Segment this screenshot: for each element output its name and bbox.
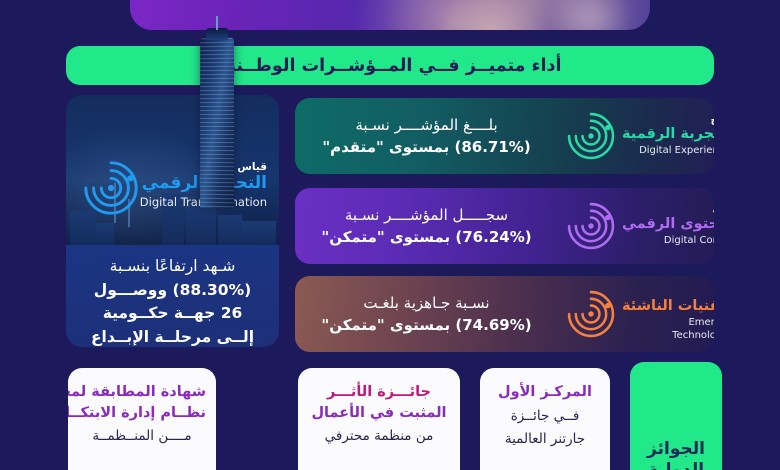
skyline-block xyxy=(242,221,276,245)
digital-transformation-card: قياس التحول الرقمي Digital Transformatio… xyxy=(66,95,279,347)
indicator-line-2: (76.24%) بمستوى "متمكن" xyxy=(305,226,548,249)
stat-line: (88.30%) ووصـــول xyxy=(80,279,265,303)
indicator-eyebrow: تبني xyxy=(622,286,714,297)
indicator-title: التقنيات الناشئة xyxy=(622,298,714,315)
tower-landmark xyxy=(200,38,234,209)
indicator-title-en: Digital Content xyxy=(622,234,714,247)
indicator-card-digital-experience: نضج التجربة الرقمية Digital Experience ب… xyxy=(295,98,714,174)
indicator-title: التجربة الرقمية xyxy=(622,126,714,143)
award-body-line-1: جارتنر العالمية xyxy=(490,429,600,449)
indicator-eyebrow: كفاءة xyxy=(622,205,714,216)
indicator-body: سجـــــل المؤشــــر نسـبة (76.24%) بمستو… xyxy=(295,204,564,249)
indicator-card-digital-content: كفاءة المحتوى الرقمي Digital Content سجـ… xyxy=(295,188,714,264)
stat-line: شـهد ارتفاعًا بنسـبة xyxy=(80,255,265,279)
indicator-body: بلــــغ المؤشــــر نسـبة (86.71%) بمستوى… xyxy=(295,114,564,159)
award-body-line-1: من منظمة محترفي xyxy=(308,426,450,446)
award-title-line-1: جائـــزة الأثـــر xyxy=(308,382,450,403)
indicator-line-1: بلــــغ المؤشــــر نسـبة xyxy=(305,114,548,137)
emerging-technologies-spiral-icon xyxy=(564,287,618,341)
banner-glow-right xyxy=(546,0,636,30)
indicator-brand: تبني التقنيات الناشئة Emerging Technolog… xyxy=(564,286,714,342)
award-title-line-2: فــي جائــزة xyxy=(490,406,600,426)
digital-experience-spiral-icon xyxy=(564,109,618,163)
indicator-eyebrow: نضج xyxy=(622,115,714,126)
badge-line-1: الجوائز xyxy=(647,439,705,461)
digital-content-spiral-icon xyxy=(564,199,618,253)
international-awards-badge: الجوائز الدولية xyxy=(630,362,722,470)
indicator-title-en: Digital Experience xyxy=(622,144,714,157)
indicator-line-2: (86.71%) بمستوى "متقدم" xyxy=(305,136,548,159)
tower-antenna xyxy=(216,16,218,30)
badge-line-2: الدولية xyxy=(648,460,704,470)
digital-transformation-stats: شـهد ارتفاعًا بنسـبة (88.30%) ووصـــول 2… xyxy=(66,247,279,347)
skyline-block xyxy=(96,223,114,245)
award-card-proven-impact: جائـــزة الأثـــر المثبت في الأعمال من م… xyxy=(298,368,460,470)
infographic-canvas: مـنصــة الأعمــال الرقمـيـة أداء متميــز… xyxy=(0,0,780,470)
indicator-brand: كفاءة المحتوى الرقمي Digital Content xyxy=(564,199,714,253)
award-title-line-1: شهادة المطابقة لمعيار xyxy=(78,382,206,403)
award-title-line-2: نظــام إدارة الابتكــار xyxy=(78,403,206,424)
indicator-title: المحتوى الرقمي xyxy=(622,216,714,233)
indicator-line-1: سجـــــل المؤشــــر نسـبة xyxy=(305,204,548,227)
indicator-body: نسـبة جـاهزية بلغـت (74.69%) بمستوى "متم… xyxy=(295,292,564,337)
skyline-block xyxy=(218,215,242,245)
award-title-line-1: المركـز الأول xyxy=(490,382,600,403)
award-title-line-2: المثبت في الأعمال xyxy=(308,403,450,424)
award-body-line-1: مــــن المنــظمــة xyxy=(78,426,206,446)
indicator-line-2: (74.69%) بمستوى "متمكن" xyxy=(305,314,548,337)
section-headline-text: أداء متميــز فــي المــؤشــرات الوطــنية xyxy=(219,56,562,76)
indicator-title-en: Emerging Technologies xyxy=(622,316,714,342)
digital-transformation-spiral-icon xyxy=(80,157,142,219)
award-card-innovation-certificate: شهادة المطابقة لمعيار نظــام إدارة الابت… xyxy=(68,368,216,470)
stat-line: إلــى مرحلــة الإبــداع xyxy=(80,326,265,347)
banner-glow-left xyxy=(432,0,552,30)
top-hero-banner: مـنصــة الأعمــال الرقمـيـة xyxy=(130,0,650,30)
indicator-brand: نضج التجربة الرقمية Digital Experience xyxy=(564,109,714,163)
skyline-block xyxy=(186,205,216,245)
indicator-card-emerging-technologies: تبني التقنيات الناشئة Emerging Technolog… xyxy=(295,276,714,352)
section-headline-banner: أداء متميــز فــي المــؤشــرات الوطــنية xyxy=(66,46,714,85)
indicator-line-1: نسـبة جـاهزية بلغـت xyxy=(305,292,548,315)
award-card-gartner-first-place: المركـز الأول فــي جائــزة جارتنر العالم… xyxy=(480,368,610,470)
stat-line: 26 جهــة حكــومية xyxy=(80,302,265,326)
